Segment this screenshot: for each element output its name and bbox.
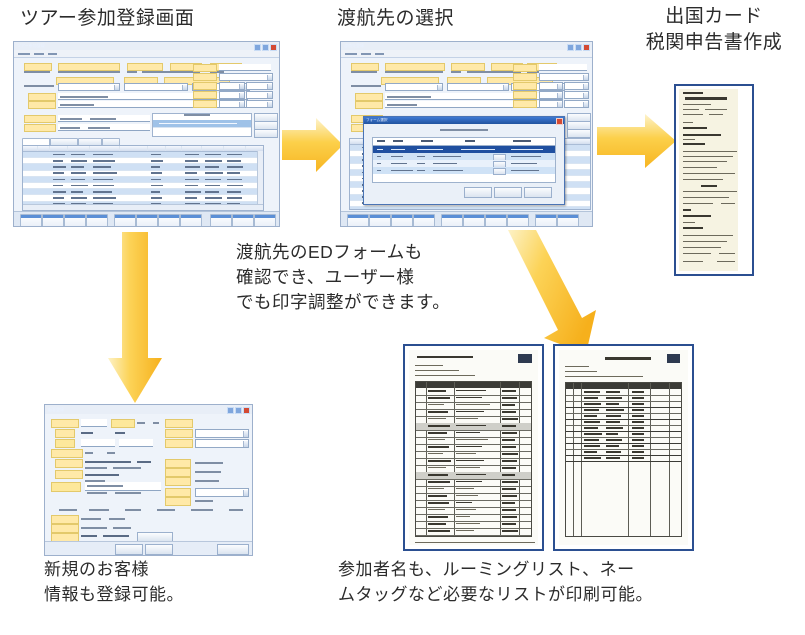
document-ed-card[interactable] <box>674 84 754 276</box>
field-label <box>355 101 383 109</box>
dropdown-select[interactable] <box>219 82 245 90</box>
field-value <box>195 462 223 464</box>
document-rooming-list[interactable] <box>553 344 694 551</box>
close-icon[interactable] <box>243 407 250 414</box>
grid-scrollbar-horizontal[interactable] <box>23 204 263 210</box>
toolbar-button-new[interactable] <box>347 214 369 227</box>
window-title-text: 顧客登録 <box>48 405 64 414</box>
window-body <box>45 414 252 556</box>
field-label <box>513 91 537 99</box>
field-value <box>60 127 80 129</box>
field-value <box>81 432 93 434</box>
field-label <box>513 64 537 72</box>
close-icon[interactable] <box>583 44 590 51</box>
window-body <box>14 58 279 227</box>
field-label <box>55 470 83 479</box>
minimize-icon[interactable] <box>254 44 261 51</box>
field-label <box>55 429 75 438</box>
menu-item-help[interactable] <box>375 53 384 55</box>
field-label <box>355 93 383 101</box>
toolbar-button-help[interactable] <box>557 214 579 227</box>
dropdown-select[interactable] <box>447 83 509 91</box>
field-value <box>351 71 377 73</box>
field-label <box>193 73 217 81</box>
dropdown-select[interactable] <box>564 100 589 108</box>
field-value <box>195 471 221 473</box>
field-value <box>81 518 101 520</box>
dialog-title-text: フォーム選択 <box>366 117 387 124</box>
field-value <box>137 461 151 463</box>
tab-strip[interactable] <box>22 138 279 145</box>
toolbar-button-export[interactable] <box>180 214 202 227</box>
listbox-row-text <box>159 123 237 125</box>
field-value <box>451 71 461 73</box>
field-label <box>165 468 191 477</box>
field-label <box>165 419 193 428</box>
window-title-text: ツアー参加登録 <box>17 42 45 50</box>
field-value <box>88 127 110 129</box>
field-label <box>165 439 193 448</box>
field-value <box>107 452 115 454</box>
rooming-table <box>565 382 682 537</box>
toolbar-button-open[interactable] <box>369 214 391 227</box>
field-value <box>60 96 108 98</box>
field-label <box>451 63 485 71</box>
field-label-highlight <box>111 419 135 428</box>
toolbar-button-save[interactable] <box>391 214 413 227</box>
toolbar-button-open[interactable] <box>42 214 64 227</box>
text-input[interactable] <box>539 64 587 71</box>
dropdown-select[interactable] <box>539 91 563 99</box>
field-value <box>85 467 107 469</box>
arrow-step2-to-step3 <box>597 112 677 170</box>
section-label <box>157 509 175 511</box>
field-label <box>51 515 79 524</box>
field-label <box>165 429 193 438</box>
action-button[interactable] <box>254 129 278 138</box>
diagram-canvas: ツアー参加登録画面 渡航先の選択 出国カード 税関申告書作成 ツアー参加登録 <box>0 0 805 635</box>
section-label <box>125 509 141 511</box>
section-label <box>89 509 109 511</box>
dialog-col-no <box>377 140 385 142</box>
toolbar-button-print[interactable] <box>535 214 557 227</box>
dialog-row[interactable] <box>373 167 555 174</box>
dropdown-select[interactable] <box>539 73 589 81</box>
field-value <box>81 527 107 529</box>
menu-item-help[interactable] <box>48 53 57 55</box>
toolbar-button-delete[interactable] <box>86 214 108 227</box>
dropdown-select[interactable] <box>246 100 273 108</box>
dialog-row[interactable] <box>373 153 555 160</box>
bottom-right-note: 参加者名も、ルーミングリスト、ネー ムタッグなど必要なリストが印刷可能。 <box>338 557 804 607</box>
menu-bar[interactable] <box>341 50 592 58</box>
field-value <box>142 71 200 73</box>
dropdown-select[interactable] <box>219 91 245 99</box>
field-value <box>90 118 116 120</box>
minimize-icon[interactable] <box>567 44 574 51</box>
window-titlebar[interactable]: 顧客登録 <box>45 405 252 414</box>
participant-grid[interactable] <box>22 145 264 211</box>
field-label <box>193 91 217 99</box>
window-titlebar[interactable]: 渡航先登録 <box>341 42 592 50</box>
toolbar-button-save[interactable] <box>64 214 86 227</box>
dropdown-select[interactable] <box>58 83 120 91</box>
field-value <box>60 104 94 106</box>
field-label-highlight <box>55 439 75 448</box>
dropdown-select[interactable] <box>564 82 589 90</box>
field-label <box>385 63 445 71</box>
toolbar-button-filter[interactable] <box>463 214 485 227</box>
action-button[interactable] <box>567 129 591 138</box>
text-input[interactable] <box>81 439 115 447</box>
field-label <box>165 488 191 497</box>
table-row <box>416 528 531 536</box>
field-value <box>113 467 141 469</box>
dialog-list[interactable] <box>372 137 556 183</box>
field-label <box>165 459 191 468</box>
dropdown-select[interactable] <box>385 83 443 91</box>
dialog-row[interactable] <box>373 160 555 167</box>
field-label <box>193 64 217 72</box>
dialog-row-button[interactable] <box>493 168 506 175</box>
window-destination-select[interactable]: 渡航先登録 <box>340 41 593 227</box>
text-input[interactable] <box>119 439 153 447</box>
field-value <box>115 432 125 434</box>
window-controls[interactable] <box>567 44 590 51</box>
field-value <box>24 85 54 87</box>
field-label <box>513 73 537 81</box>
field-value <box>85 461 131 463</box>
arrow-step1-to-step2 <box>282 116 344 174</box>
field-label <box>351 63 379 71</box>
field-value <box>153 422 159 424</box>
field-label <box>165 497 191 506</box>
listbox-caption <box>184 114 210 116</box>
listbox-row-selected[interactable] <box>153 120 251 128</box>
dropdown-select[interactable] <box>124 83 188 91</box>
dropdown-select[interactable] <box>219 100 245 108</box>
button-register[interactable] <box>115 544 143 555</box>
dialog-button-close[interactable] <box>524 187 552 198</box>
toolbar-button-sort[interactable] <box>485 214 507 227</box>
field-label <box>58 63 120 71</box>
menu-bar[interactable] <box>14 50 279 58</box>
window-title-text: 渡航先登録 <box>344 42 364 50</box>
field-label <box>51 419 79 428</box>
window-customer-entry[interactable]: 顧客登録 <box>44 404 253 556</box>
field-value <box>81 535 97 537</box>
dialog-col-desc <box>465 140 475 142</box>
rooming-list-paper <box>559 350 688 545</box>
dropdown-select[interactable] <box>539 100 563 108</box>
section-label <box>191 509 213 511</box>
dropdown-select[interactable] <box>539 82 563 90</box>
field-label-highlight <box>51 482 81 492</box>
dropdown-select[interactable] <box>195 429 249 438</box>
toolbar-button-sort[interactable] <box>158 214 180 227</box>
field-value <box>137 422 145 424</box>
field-value <box>113 527 131 529</box>
window-controls[interactable] <box>254 44 277 51</box>
field-value <box>351 85 381 87</box>
toolbar-button-help[interactable] <box>254 214 276 227</box>
field-label <box>193 100 217 108</box>
field-value <box>387 104 417 106</box>
field-label <box>55 459 83 468</box>
field-label <box>513 100 537 108</box>
menu-item-edit[interactable] <box>361 53 371 55</box>
dropdown-select[interactable] <box>246 82 273 90</box>
bottom-toolbar[interactable] <box>341 211 592 227</box>
toolbar-button-search[interactable] <box>114 214 136 227</box>
document-participant-list[interactable] <box>403 344 544 551</box>
field-value <box>85 452 93 454</box>
toolbar-button-print[interactable] <box>210 214 232 227</box>
text-input[interactable] <box>81 419 107 427</box>
field-value <box>58 71 120 73</box>
dialog-row-selected[interactable] <box>373 146 555 153</box>
grid-scrollbar-vertical[interactable] <box>257 151 263 204</box>
menu-item-file[interactable] <box>18 53 30 55</box>
field-value <box>387 96 431 98</box>
field-label <box>165 477 191 486</box>
arrow-step1-to-customer <box>108 232 180 404</box>
field-value <box>109 518 125 520</box>
dialog-col-file <box>513 140 531 142</box>
field-label <box>24 63 52 71</box>
dialog-col-doc <box>421 140 433 142</box>
field-value <box>195 500 213 502</box>
dialog-action-bar <box>45 541 252 556</box>
dropdown-select[interactable] <box>219 73 273 81</box>
dropdown-select[interactable] <box>195 488 249 497</box>
selection-listbox[interactable] <box>152 113 252 137</box>
maximize-icon[interactable] <box>575 44 582 51</box>
bottom-left-note: 新規のお客様 情報も登録可能。 <box>44 557 274 607</box>
field-label <box>24 115 56 123</box>
field-value <box>115 492 141 494</box>
dialog-heading <box>440 129 488 131</box>
rooming-list-title <box>605 357 651 360</box>
step3-title: 出国カード 税関申告書作成 <box>630 4 798 56</box>
dialog-form-select[interactable]: フォーム選択 <box>363 116 565 205</box>
dialog-titlebar[interactable]: フォーム選択 <box>364 117 564 124</box>
field-value <box>87 485 123 487</box>
dialog-button-print-settings[interactable] <box>494 187 522 198</box>
field-label <box>127 63 163 71</box>
middle-note: 渡航先のEDフォームも 確認でき、ユーザー様 でも印字調整ができます。 <box>236 240 504 315</box>
field-label <box>51 449 83 458</box>
toolbar-button-preview[interactable] <box>232 214 254 227</box>
company-logo <box>518 354 532 363</box>
dropdown-select[interactable] <box>195 439 249 448</box>
field-value <box>127 71 137 73</box>
step2-title: 渡航先の選択 <box>337 6 454 32</box>
field-label <box>193 82 217 90</box>
close-icon[interactable] <box>270 44 277 51</box>
toolbar-button-export[interactable] <box>507 214 529 227</box>
field-value <box>87 492 107 494</box>
field-label <box>28 101 56 109</box>
table-row <box>566 455 681 462</box>
button-cancel[interactable] <box>145 544 173 555</box>
maximize-icon[interactable] <box>262 44 269 51</box>
dialog-col-country <box>393 140 403 142</box>
window-titlebar[interactable]: ツアー参加登録 <box>14 42 279 50</box>
field-label <box>513 82 537 90</box>
section-label <box>229 509 243 511</box>
menu-item-edit[interactable] <box>34 53 44 55</box>
ed-card-paper <box>679 89 738 271</box>
menu-item-file[interactable] <box>345 53 357 55</box>
field-label <box>28 93 56 101</box>
field-label <box>24 124 56 132</box>
section-label <box>59 509 77 511</box>
window-controls[interactable] <box>227 407 250 414</box>
step1-title: ツアー参加登録画面 <box>20 6 194 32</box>
field-value <box>85 474 119 476</box>
toolbar-button-new[interactable] <box>20 214 42 227</box>
field-value <box>103 535 129 537</box>
toolbar-button-filter[interactable] <box>136 214 158 227</box>
field-value <box>60 118 82 120</box>
toolbar-button-search[interactable] <box>441 214 463 227</box>
dialog-close-icon[interactable] <box>556 118 563 125</box>
arrow-step2-to-lists <box>486 230 602 356</box>
field-value <box>195 480 219 482</box>
window-body: フォーム選択 <box>341 58 592 227</box>
dropdown-select[interactable] <box>564 91 589 99</box>
bottom-toolbar[interactable] <box>14 211 279 227</box>
participant-table <box>415 381 532 537</box>
table-row[interactable] <box>350 207 590 210</box>
field-value <box>385 71 443 73</box>
toolbar-button-delete[interactable] <box>413 214 435 227</box>
button-close[interactable] <box>217 544 249 555</box>
maximize-icon[interactable] <box>235 407 242 414</box>
minimize-icon[interactable] <box>227 407 234 414</box>
dropdown-select[interactable] <box>246 91 273 99</box>
text-input[interactable] <box>219 64 271 71</box>
field-value <box>24 71 50 73</box>
window-tour-entry[interactable]: ツアー参加登録 <box>13 41 280 227</box>
company-logo <box>667 354 680 363</box>
participant-list-paper <box>409 350 538 545</box>
dialog-button-preview[interactable] <box>464 187 492 198</box>
field-label <box>51 524 79 533</box>
